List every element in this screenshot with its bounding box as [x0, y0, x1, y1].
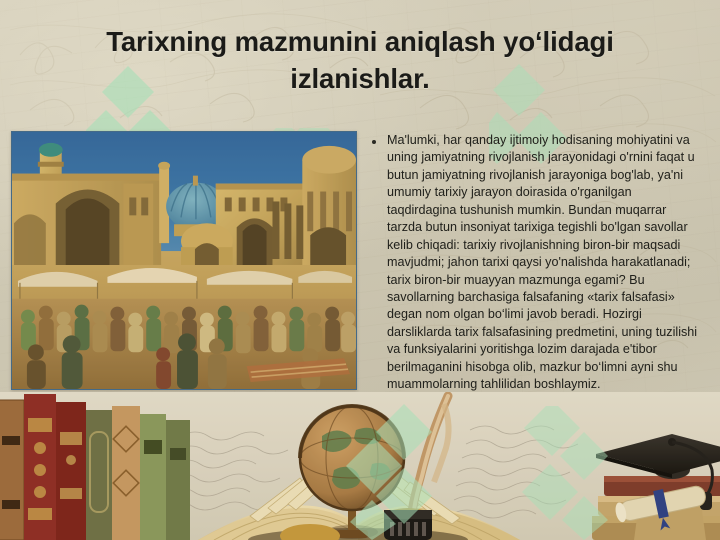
body-paragraph: Ma'lumki, har qanday ijtimoiy hodisaning…	[387, 132, 702, 394]
bullet-point-icon	[372, 140, 376, 144]
slide-title: Tarixning mazmunini aniqlash yo‘lidagi i…	[48, 24, 672, 97]
registan-square-bazaar-painting	[11, 131, 357, 390]
body-text-block: Ma'lumki, har qanday ijtimoiy hodisaning…	[372, 132, 702, 394]
books-globe-scholarly-band	[0, 392, 720, 540]
bullet-list-item: Ma'lumki, har qanday ijtimoiy hodisaning…	[372, 132, 702, 394]
presentation-slide: Tarixning mazmunini aniqlash yo‘lidagi i…	[0, 0, 720, 540]
